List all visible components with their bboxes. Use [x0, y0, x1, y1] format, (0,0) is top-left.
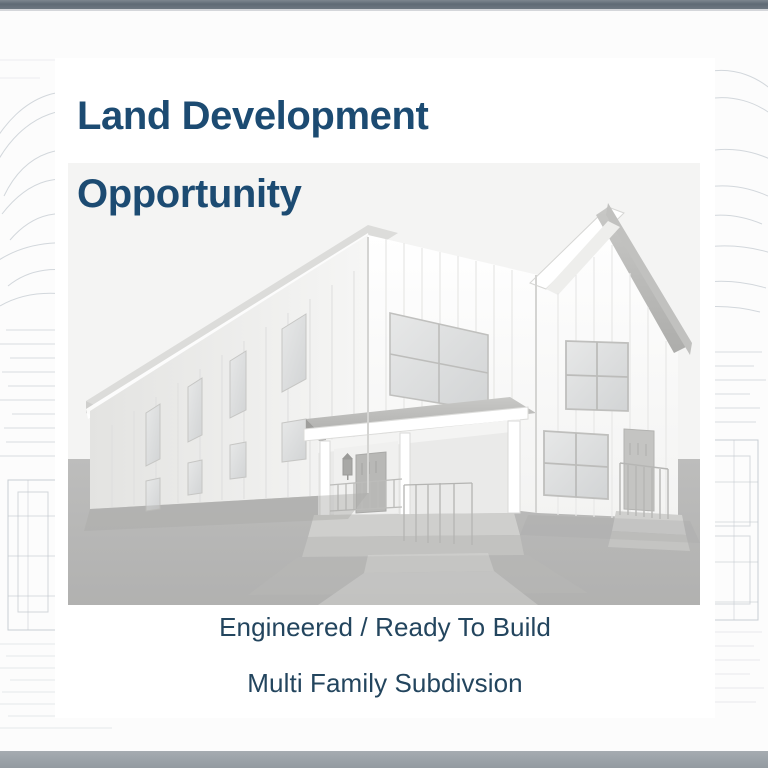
marketing-flyer: Land Development Opportunity Engineered …	[0, 0, 768, 768]
content-card: Land Development Opportunity Engineered …	[55, 58, 715, 718]
bottom-accent-band	[0, 751, 768, 768]
headline-line-2: Opportunity	[77, 174, 677, 214]
top-band-hairline	[0, 9, 768, 11]
property-rendering-panel	[68, 163, 700, 605]
headline-line-1: Land Development	[77, 96, 677, 136]
caption-line-2: Multi Family Subdivsion	[55, 670, 715, 696]
caption-block: Engineered / Ready To Build Multi Family…	[55, 614, 715, 696]
page-title: Land Development Opportunity	[77, 96, 677, 214]
house-rendering-illustration	[68, 163, 700, 605]
caption-line-1: Engineered / Ready To Build	[55, 614, 715, 640]
top-accent-band	[0, 0, 768, 9]
